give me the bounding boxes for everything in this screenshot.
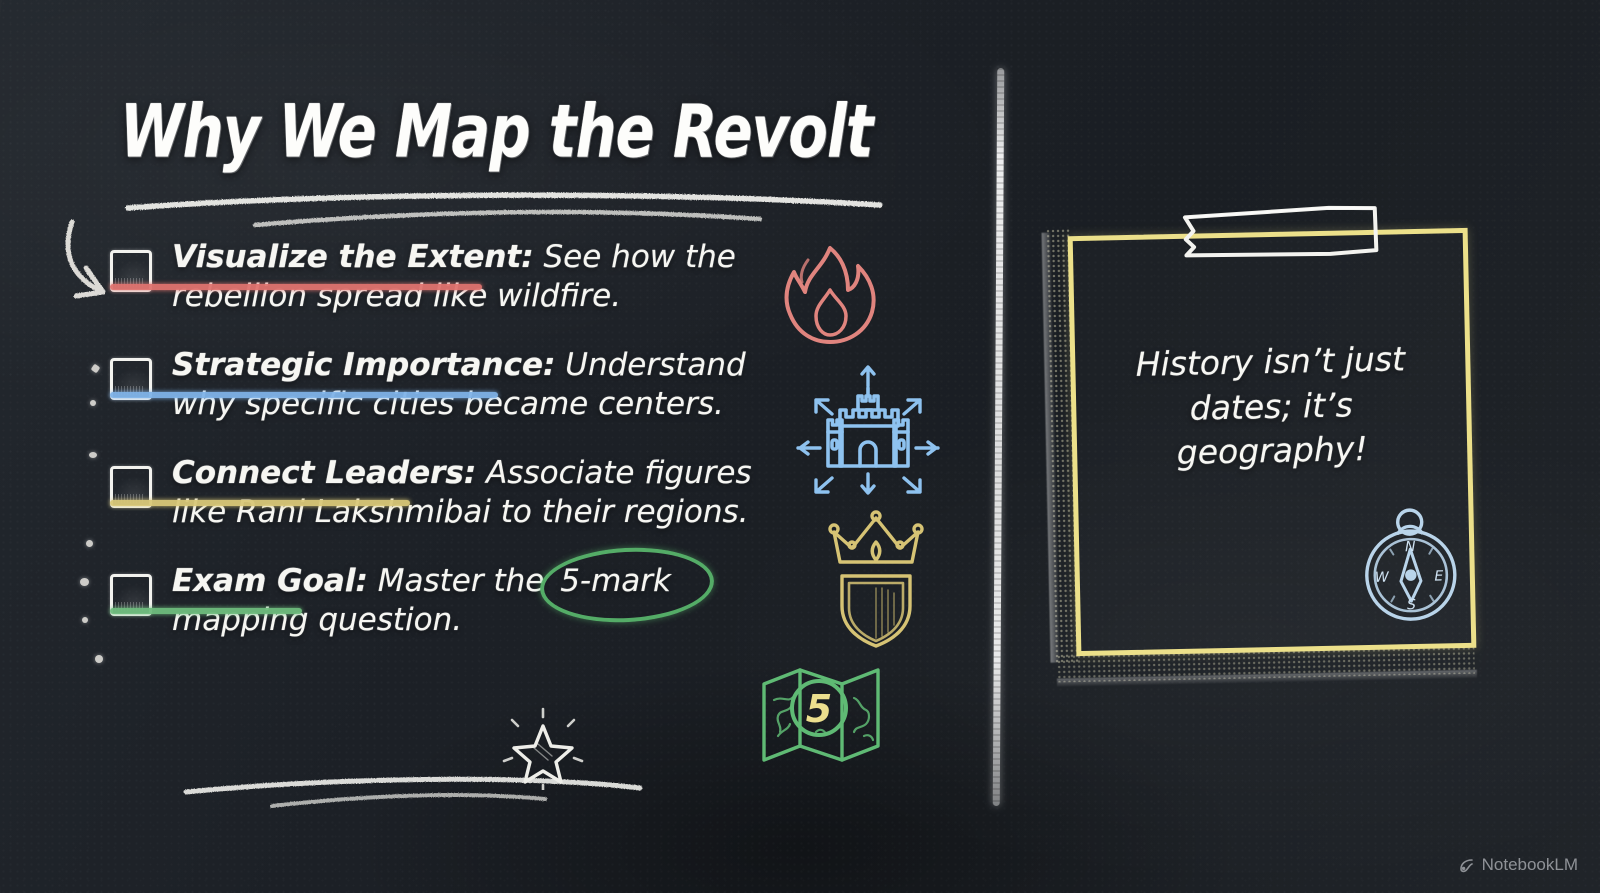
crown-shield-icon	[824, 508, 928, 648]
chalk-dot	[80, 578, 89, 586]
list-item-lead: Strategic Importance:	[172, 347, 555, 383]
compass-label-w: W	[1375, 570, 1390, 586]
lead-underline	[110, 392, 498, 398]
note-quote-line: dates; it’s	[1097, 381, 1446, 433]
compass-label-s: S	[1407, 597, 1416, 613]
watermark-label: NotebookLM	[1482, 855, 1578, 875]
lead-underline	[110, 284, 482, 290]
compass-label-n: N	[1405, 539, 1416, 555]
compass-icon: N E S W	[1353, 496, 1468, 628]
list-item-text: Exam Goal: Master the 5-mark mapping que…	[172, 562, 792, 640]
chalk-dot	[82, 617, 88, 623]
map-badge-number: 5	[806, 687, 832, 731]
list-item-lead: Exam Goal:	[172, 563, 368, 599]
list-item-lead: Visualize the Extent:	[172, 239, 534, 275]
highlight-ring	[538, 544, 716, 627]
list-item-text: Visualize the Extent: See how the rebell…	[172, 238, 812, 316]
chalkboard-slide: Why We Map the Revolt	[0, 0, 1600, 893]
watermark: NotebookLM	[1458, 855, 1578, 875]
chalk-dot	[91, 364, 101, 374]
highlight-5-mark: 5-mark	[554, 562, 677, 601]
chalk-dot	[89, 452, 97, 458]
lead-underline	[110, 500, 410, 506]
chalk-dot	[95, 655, 103, 663]
map-five-icon: 5	[756, 660, 886, 772]
notebooklm-logo-icon	[1458, 857, 1475, 874]
sticky-note: History isn’t just dates; it’s geography…	[1068, 228, 1477, 656]
note-quote-line: History isn’t just	[1096, 336, 1445, 388]
page-title: Why We Map the Revolt	[120, 88, 872, 174]
list-item-rest-before: Master the	[368, 563, 554, 599]
curved-arrow-icon	[68, 222, 103, 296]
list-item-lead: Connect Leaders:	[172, 455, 476, 491]
list-item-text: Connect Leaders: Associate figures like …	[172, 454, 812, 532]
list-item[interactable]: Exam Goal: Master the 5-mark mapping que…	[110, 562, 930, 640]
list-item-text: Strategic Importance: Understand why spe…	[172, 346, 812, 424]
vertical-chalk-divider	[993, 68, 1005, 806]
chalk-dot	[86, 540, 93, 547]
castle-spread-icon	[782, 362, 954, 508]
flame-icon	[778, 238, 882, 348]
note-quote: History isn’t just dates; it’s geography…	[1096, 336, 1447, 477]
lead-underline	[110, 608, 302, 614]
sparkle-star-icon	[500, 706, 586, 790]
chalk-dot	[90, 400, 96, 406]
note-quote-line: geography!	[1098, 425, 1447, 477]
compass-label-e: E	[1434, 568, 1443, 584]
tape-strip	[1179, 200, 1381, 266]
